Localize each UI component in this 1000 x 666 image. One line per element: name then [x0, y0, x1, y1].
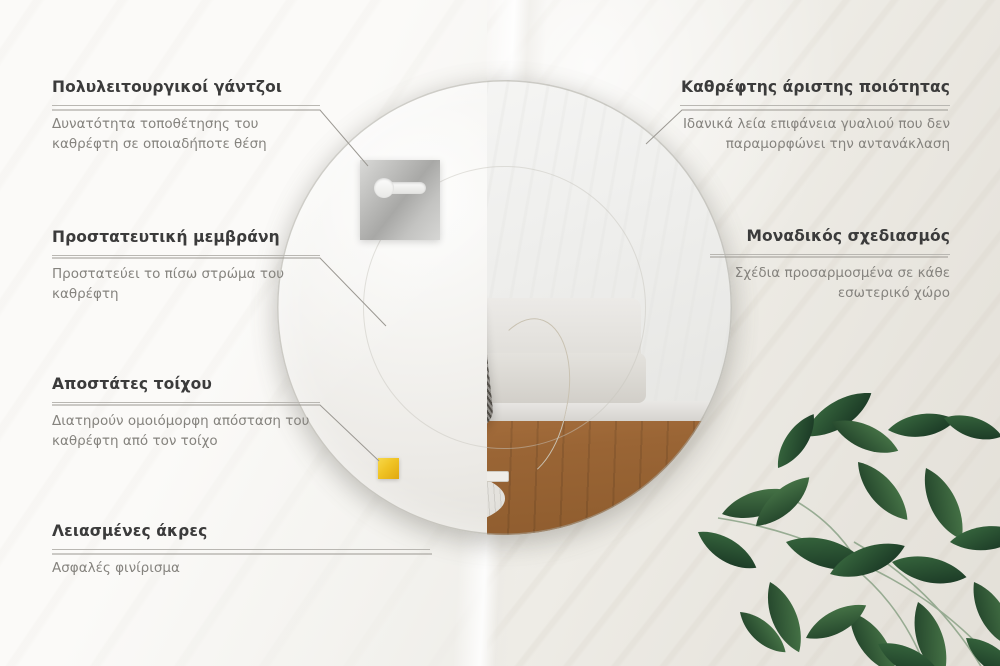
callout-title: Αποστάτες τοίχου	[52, 375, 320, 393]
callout-wall-spacers: Αποστάτες τοίχου Διατηρούν ομοιόμορφη απ…	[52, 375, 320, 451]
callout-title: Πολυλειτουργικοί γάντζοι	[52, 78, 320, 96]
hook-keyhole-slot	[374, 182, 426, 194]
callout-rule	[52, 402, 320, 403]
callout-rule	[680, 105, 950, 106]
product-mirror	[277, 80, 732, 535]
callout-title: Λειασμένες άκρες	[52, 522, 430, 540]
leaf-pattern-frame	[277, 80, 732, 535]
callout-rule	[52, 549, 430, 550]
callout-multifunctional-hooks: Πολυλειτουργικοί γάντζοι Δυνατότητα τοπο…	[52, 78, 320, 154]
eucalyptus-branch-decor	[682, 376, 1000, 666]
infographic-canvas: Πολυλειτουργικοί γάντζοι Δυνατότητα τοπο…	[0, 0, 1000, 666]
callout-protective-membrane: Προστατευτική μεμβράνη Προστατεύει το πί…	[52, 228, 320, 304]
callout-top-quality-mirror: Καθρέφτης άριστης ποιότητας Ιδανικά λεία…	[680, 78, 950, 154]
yellow-spacer	[378, 458, 399, 479]
callout-rule	[52, 255, 320, 256]
callout-description: Προστατεύει το πίσω στρώμα του καθρέφτη	[52, 265, 320, 304]
callout-description: Δυνατότητα τοποθέτησης του καθρέφτη σε ο…	[52, 115, 320, 154]
callout-title: Καθρέφτης άριστης ποιότητας	[680, 78, 950, 96]
hook-plate	[360, 160, 440, 240]
callout-description: Ασφαλές φινίρισμα	[52, 559, 430, 579]
callout-polished-edges: Λειασμένες άκρες Ασφαλές φινίρισμα	[52, 522, 430, 579]
callout-description: Ιδανικά λεία επιφάνεια γυαλιού που δεν π…	[680, 115, 950, 154]
callout-description: Διατηρούν ομοιόμορφη απόσταση του καθρέφ…	[52, 412, 320, 451]
callout-description: Σχέδια προσαρμοσμένα σε κάθε εσωτερικό χ…	[710, 264, 950, 303]
callout-title: Προστατευτική μεμβράνη	[52, 228, 320, 246]
callout-rule	[52, 105, 320, 106]
callout-title: Μοναδικός σχεδιασμός	[710, 227, 950, 245]
callout-rule	[710, 254, 950, 255]
callout-unique-design: Μοναδικός σχεδιασμός Σχέδια προσαρμοσμέν…	[710, 227, 950, 303]
